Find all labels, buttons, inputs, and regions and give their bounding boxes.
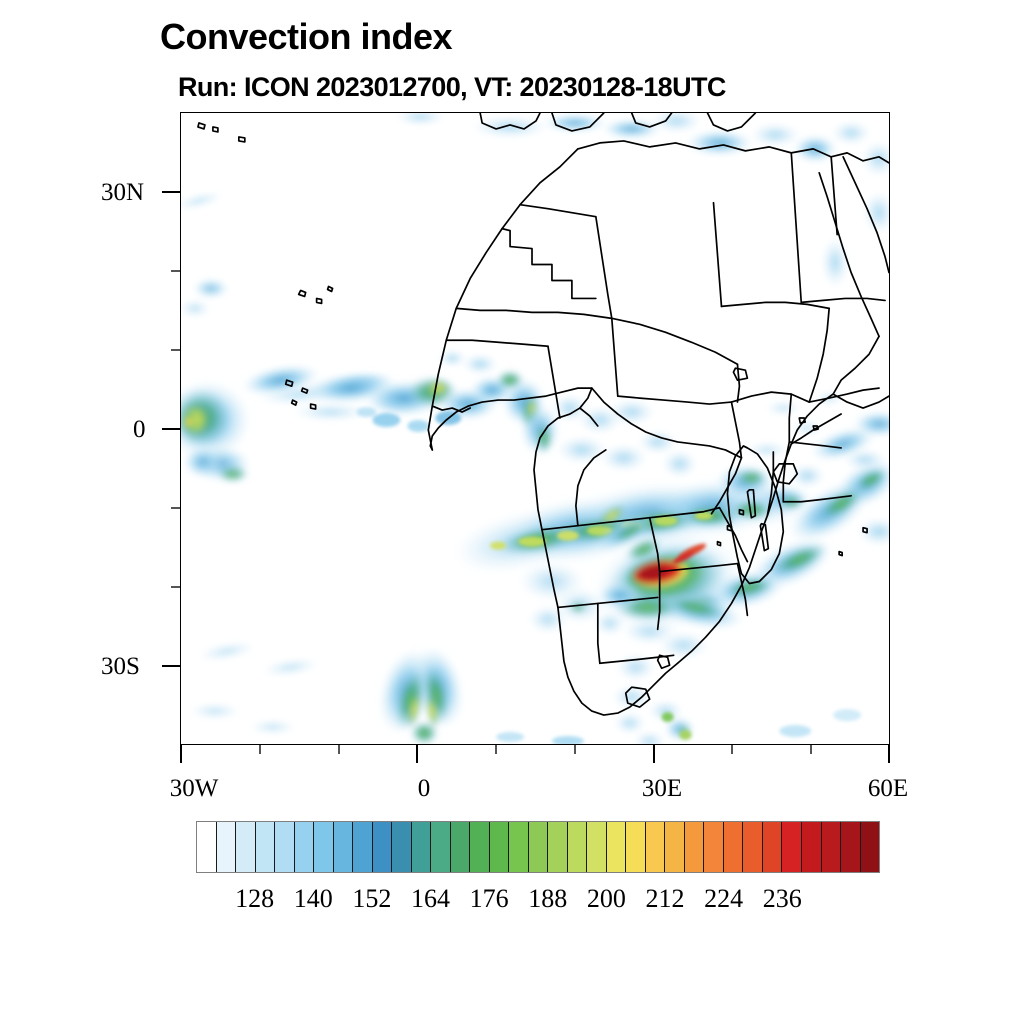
y-tick-major (162, 428, 180, 430)
colorbar-segment (313, 822, 333, 872)
colorbar-segment (606, 822, 626, 872)
colorbar[interactable] (196, 821, 880, 873)
colorbar-segment (801, 822, 821, 872)
y-axis-label-0: 0 (133, 416, 146, 444)
colorbar-tick-label: 212 (646, 884, 685, 914)
colorbar-segment (703, 822, 723, 872)
colorbar-segment (840, 822, 860, 872)
colorbar-segment (333, 822, 353, 872)
x-tick-minor (810, 745, 812, 754)
run-valid-time-subtitle: Run: ICON 2023012700, VT: 20230128-18UTC (178, 72, 726, 103)
convection-index-map (181, 113, 889, 744)
y-tick-minor (171, 507, 180, 509)
colorbar-segment (450, 822, 470, 872)
colorbar-segment (235, 822, 255, 872)
colorbar-tick-label: 188 (528, 884, 567, 914)
x-tick-minor (731, 745, 733, 754)
x-tick-major (888, 745, 890, 763)
colorbar-tick-label: 140 (294, 884, 333, 914)
x-axis-label-0: 0 (418, 775, 431, 803)
colorbar-segment (567, 822, 587, 872)
x-tick-major (180, 745, 182, 763)
colorbar-segment (372, 822, 392, 872)
colorbar-segment (430, 822, 450, 872)
y-axis-label-30n: 30N (101, 179, 144, 207)
colorbar-segment (821, 822, 841, 872)
y-tick-minor (171, 586, 180, 588)
colorbar-tick-label: 152 (352, 884, 391, 914)
colorbar-segment (860, 822, 880, 872)
x-axis-label-60e: 60E (868, 775, 908, 803)
colorbar-segment (781, 822, 801, 872)
y-tick-minor (171, 349, 180, 351)
x-tick-major (416, 745, 418, 763)
page-title: Convection index (160, 16, 452, 58)
colorbar-segment (586, 822, 606, 872)
colorbar-tick-label: 224 (704, 884, 743, 914)
colorbar-segment (723, 822, 743, 872)
y-tick-minor (171, 270, 180, 272)
colorbar-tick-label: 164 (411, 884, 450, 914)
colorbar-segment (684, 822, 704, 872)
x-axis-label-30w: 30W (170, 775, 219, 803)
colorbar-segment (508, 822, 528, 872)
colorbar-tick-label: 200 (587, 884, 626, 914)
y-axis-label-30s: 30S (101, 653, 140, 681)
colorbar-tick-label: 128 (235, 884, 274, 914)
colorbar-segment (391, 822, 411, 872)
colorbar-segment (255, 822, 275, 872)
x-tick-minor (338, 745, 340, 754)
colorbar-segment (742, 822, 762, 872)
y-tick-major (162, 665, 180, 667)
colorbar-tick-label: 176 (470, 884, 509, 914)
x-tick-major (653, 745, 655, 763)
colorbar-segment (528, 822, 548, 872)
colorbar-segment (489, 822, 509, 872)
colorbar-segment (762, 822, 782, 872)
colorbar-segment (352, 822, 372, 872)
x-axis-label-30e: 30E (642, 775, 682, 803)
colorbar-segment (294, 822, 314, 872)
colorbar-segment (645, 822, 665, 872)
map-plot-area (180, 112, 890, 745)
colorbar-segment (625, 822, 645, 872)
convection-index-figure: Convection index Run: ICON 2023012700, V… (0, 0, 1024, 1024)
colorbar-segment (197, 822, 216, 872)
x-tick-minor (574, 745, 576, 754)
x-tick-minor (495, 745, 497, 754)
colorbar-segment (664, 822, 684, 872)
colorbar-tick-label: 236 (763, 884, 802, 914)
x-tick-minor (259, 745, 261, 754)
colorbar-segment (216, 822, 236, 872)
colorbar-segment (274, 822, 294, 872)
y-tick-major (162, 191, 180, 193)
equatorial-atlantic-cell (181, 380, 251, 483)
colorbar-segment (469, 822, 489, 872)
colorbar-segment (547, 822, 567, 872)
colorbar-segment (411, 822, 431, 872)
